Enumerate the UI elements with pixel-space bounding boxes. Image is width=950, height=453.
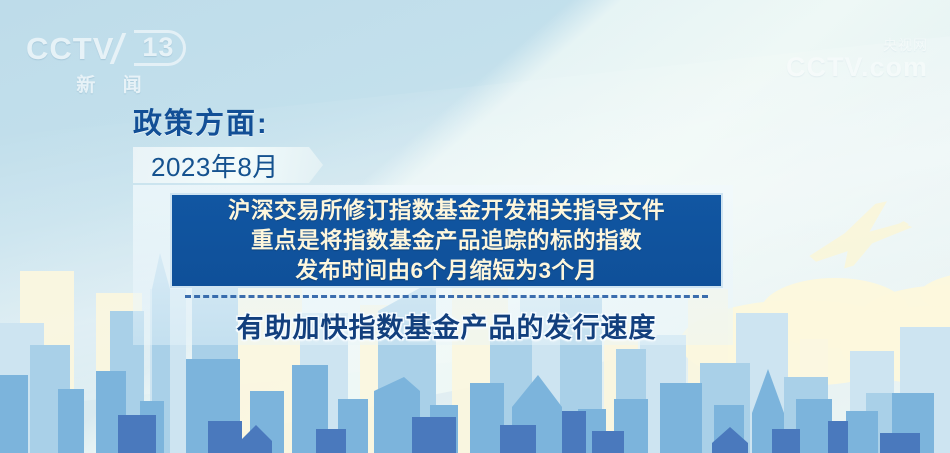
channel-number: 13: [134, 30, 186, 66]
broadcast-graphic: CCTV 13 新 闻 央视网 CCTV.com 政策方面: 2023年8月 沪…: [0, 0, 950, 453]
policy-callout-box: 沪深交易所修订指数基金开发相关指导文件 重点是将指数基金产品追踪的标的指数 发布…: [170, 193, 723, 288]
tagline-text: 有助加快指数基金产品的发行速度: [170, 306, 723, 345]
cctv-logo-text: CCTV: [26, 33, 114, 64]
date-badge: 2023年8月: [133, 147, 323, 183]
cctv13-channel-logo: CCTV 13 新 闻: [26, 30, 192, 88]
channel-sub-label: 新 闻: [26, 70, 192, 97]
callout-line-2: 重点是将指数基金产品追踪的标的指数: [251, 226, 642, 256]
page-title: 政策方面:: [133, 100, 269, 142]
watermark-cn-label: 央视网: [838, 38, 928, 52]
cctv-com-watermark: 央视网 CCTV.com: [786, 38, 928, 81]
cctv-logo-row: CCTV 13: [26, 30, 192, 66]
watermark-en-label: CCTV.com: [786, 54, 928, 81]
callout-line-1: 沪深交易所修订指数基金开发相关指导文件: [228, 196, 665, 226]
date-badge-label: 2023年8月: [151, 147, 279, 184]
callout-line-3: 发布时间由6个月缩短为3个月: [295, 256, 597, 286]
dashed-divider: [185, 295, 708, 298]
